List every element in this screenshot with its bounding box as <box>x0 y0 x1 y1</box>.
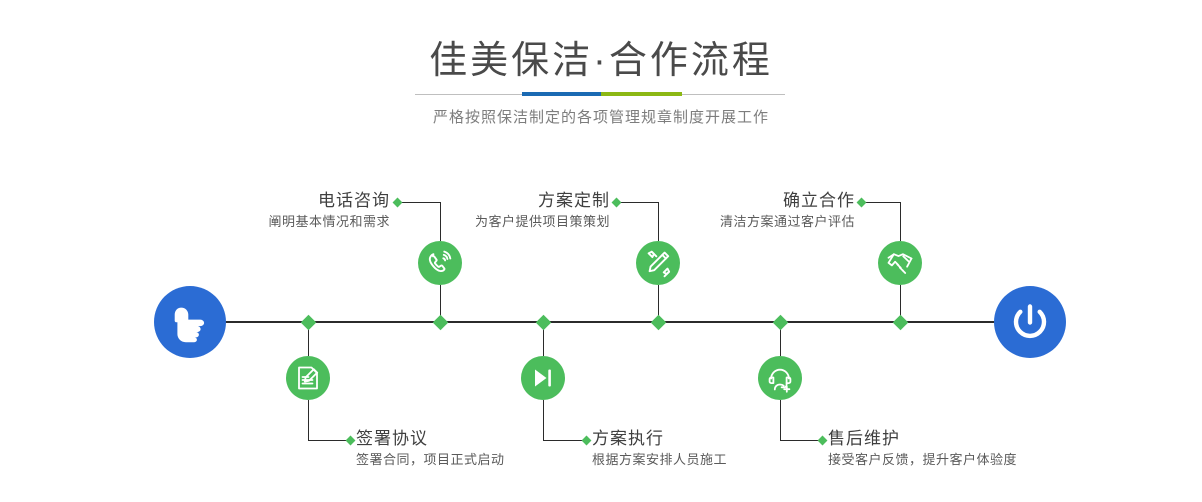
step-node-phone-consultation[interactable] <box>418 241 462 285</box>
page-subtitle: 严格按照保洁制定的各项管理规章制度开展工作 <box>0 106 1202 130</box>
connector-stem-establish-cooperation <box>900 213 901 241</box>
axis-marker-after-sales-maintenance <box>773 315 789 331</box>
pointing-hand-icon <box>154 286 226 358</box>
axis-marker-sign-agreement <box>301 315 317 331</box>
connector-tip-dot-establish-cooperation <box>857 198 867 208</box>
step-label-establish-cooperation: 确立合作 清洁方案通过客户评估 <box>615 190 855 232</box>
step-label-sign-agreement: 签署协议 签署合同，项目正式启动 <box>356 428 616 470</box>
step-node-establish-cooperation[interactable] <box>878 241 922 285</box>
axis-marker-plan-execution <box>536 315 552 331</box>
phone-ringing-icon <box>418 241 462 285</box>
step-label-plan-execution: 方案执行 根据方案安排人员施工 <box>592 428 852 470</box>
step-node-sign-agreement[interactable] <box>286 356 330 400</box>
document-pencil-icon <box>286 356 330 400</box>
step-label-phone-consultation: 电话咨询 阐明基本情况和需求 <box>150 190 390 232</box>
step-desc-sign-agreement: 签署合同，项目正式启动 <box>356 450 616 470</box>
step-title-sign-agreement: 签署协议 <box>356 428 616 450</box>
connector-tip-dot-sign-agreement <box>346 436 356 446</box>
step-node-after-sales-maintenance[interactable] <box>758 356 802 400</box>
pen-ruler-icon <box>636 241 680 285</box>
timeline-end-node[interactable] <box>994 286 1066 358</box>
title-divider-blue-segment <box>522 92 601 96</box>
step-title-plan-customization: 方案定制 <box>370 190 610 212</box>
axis-marker-plan-customization <box>651 315 667 331</box>
power-icon <box>994 286 1066 358</box>
axis-marker-phone-consultation <box>433 315 449 331</box>
step-title-establish-cooperation: 确立合作 <box>615 190 855 212</box>
connector-elbow-establish-cooperation <box>900 202 901 214</box>
page-title: 佳美保洁·合作流程 <box>0 38 1202 84</box>
timeline-start-node[interactable] <box>154 286 226 358</box>
step-desc-after-sales-maintenance: 接受客户反馈，提升客户体验度 <box>828 450 1108 470</box>
step-label-plan-customization: 方案定制 为客户提供项目策策划 <box>370 190 610 232</box>
axis-marker-establish-cooperation <box>893 315 909 331</box>
step-desc-plan-customization: 为客户提供项目策策划 <box>370 212 610 232</box>
connector-stem-sign-agreement <box>308 400 309 441</box>
step-node-plan-execution[interactable] <box>521 356 565 400</box>
connector-arm-after-sales-maintenance <box>780 440 822 441</box>
connector-stem-plan-execution <box>543 400 544 441</box>
step-label-after-sales-maintenance: 售后维护 接受客户反馈，提升客户体验度 <box>828 428 1108 470</box>
connector-arm-establish-cooperation <box>862 202 901 203</box>
step-desc-establish-cooperation: 清洁方案通过客户评估 <box>615 212 855 232</box>
connector-arm-sign-agreement <box>308 440 350 441</box>
connector-stem-after-sales-maintenance <box>780 400 781 441</box>
handshake-icon <box>878 241 922 285</box>
step-title-phone-consultation: 电话咨询 <box>150 190 390 212</box>
step-title-after-sales-maintenance: 售后维护 <box>828 428 1108 450</box>
title-divider-green-segment <box>601 92 682 96</box>
step-node-plan-customization[interactable] <box>636 241 680 285</box>
flowchart-canvas: 佳美保洁·合作流程 严格按照保洁制定的各项管理规章制度开展工作 <box>0 0 1202 502</box>
step-desc-phone-consultation: 阐明基本情况和需求 <box>150 212 390 232</box>
connector-arm-plan-execution <box>543 440 586 441</box>
step-title-plan-execution: 方案执行 <box>592 428 852 450</box>
headset-person-plus-icon <box>758 356 802 400</box>
play-forward-icon <box>521 356 565 400</box>
step-desc-plan-execution: 根据方案安排人员施工 <box>592 450 852 470</box>
